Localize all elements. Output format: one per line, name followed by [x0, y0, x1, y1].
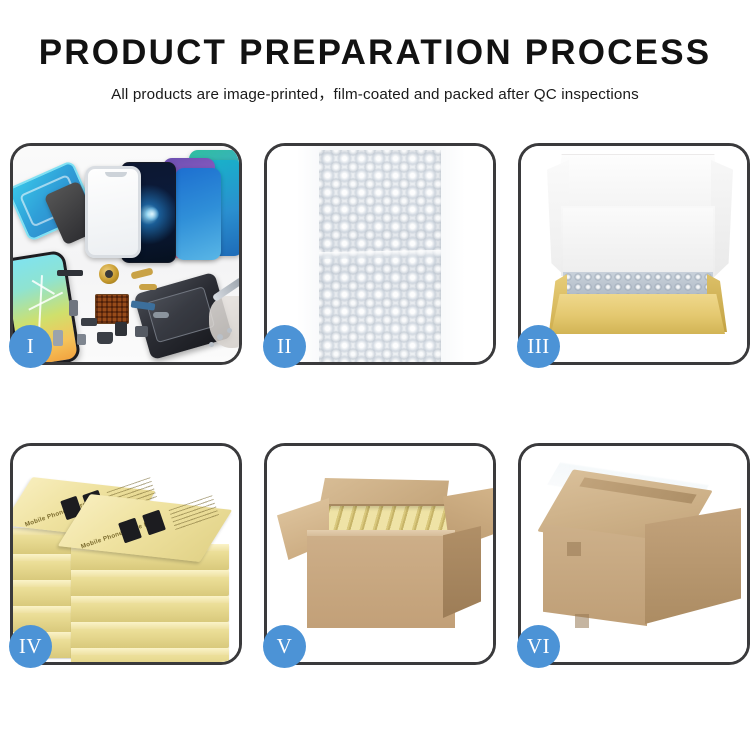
process-step-panel-2: II	[264, 143, 496, 365]
step-badge-6: VI	[517, 625, 560, 668]
small-part	[69, 300, 78, 316]
panel-6-image	[521, 446, 747, 662]
small-part	[130, 267, 153, 279]
carton-right-face	[645, 508, 741, 624]
small-part	[53, 330, 63, 346]
process-step-panel-1: I	[10, 143, 242, 365]
crack-line	[28, 292, 63, 311]
small-part	[97, 332, 113, 344]
screen-protector-glass	[85, 166, 141, 258]
white-foam-insert	[563, 208, 713, 274]
stacked-box	[71, 648, 229, 662]
page-title: PRODUCT PREPARATION PROCESS	[0, 34, 750, 73]
process-step-panel-4: Mobile Phone Spare Parts Mobile Phone Sp…	[10, 443, 242, 665]
carton-hand-hole	[575, 614, 589, 628]
carton-front-face	[543, 524, 647, 626]
panel-5-image	[267, 446, 493, 662]
carton-front-face	[307, 536, 455, 628]
stacked-boxes-scene: Mobile Phone Spare Parts Mobile Phone Sp…	[13, 446, 239, 662]
chip-array-part	[95, 294, 129, 324]
sealed-carton-scene	[521, 446, 747, 662]
panel-1-image	[13, 146, 239, 362]
process-step-panel-5: V	[264, 443, 496, 665]
process-step-panel-3: III	[518, 143, 750, 365]
small-part	[139, 284, 157, 290]
panel-2-image	[267, 146, 493, 362]
carton-side-face	[443, 526, 481, 618]
page-header: PRODUCT PREPARATION PROCESS All products…	[0, 0, 750, 104]
box-front-kraft	[551, 294, 725, 334]
step-badge-2: II	[263, 325, 306, 368]
page-subtitle: All products are image-printed，film-coat…	[0, 82, 750, 104]
panel-3-image	[521, 146, 747, 362]
stacked-box	[71, 622, 229, 648]
box-stack: Mobile Phone Spare Parts Mobile Phone Sp…	[13, 446, 239, 662]
step-badge-1: I	[9, 325, 52, 368]
crack-line	[32, 280, 55, 295]
small-part	[81, 318, 97, 326]
small-part	[135, 326, 148, 337]
open-carton-scene	[267, 446, 493, 662]
blue-gradient-phone	[175, 168, 221, 260]
stacked-box	[71, 570, 229, 596]
screw-part	[217, 334, 223, 340]
small-part	[57, 270, 83, 276]
bubble-wrap-scene	[267, 146, 493, 362]
carton-hand-hole	[567, 542, 581, 556]
stacked-box	[71, 596, 229, 622]
small-part	[115, 322, 127, 336]
screw-part	[209, 342, 214, 347]
process-steps-grid: I II III	[10, 143, 740, 665]
speaker-coil-part	[99, 264, 119, 284]
small-part	[153, 312, 169, 318]
step-badge-4: IV	[9, 625, 52, 668]
open-inner-box-scene	[521, 146, 747, 362]
panel-4-image: Mobile Phone Spare Parts Mobile Phone Sp…	[13, 446, 239, 662]
bubble-wrap-pouch	[319, 150, 441, 362]
small-part	[77, 334, 86, 345]
process-step-panel-6: VI	[518, 443, 750, 665]
screw-part	[227, 328, 232, 333]
phones-and-parts-scene	[13, 146, 239, 362]
step-badge-5: V	[263, 625, 306, 668]
step-badge-3: III	[517, 325, 560, 368]
